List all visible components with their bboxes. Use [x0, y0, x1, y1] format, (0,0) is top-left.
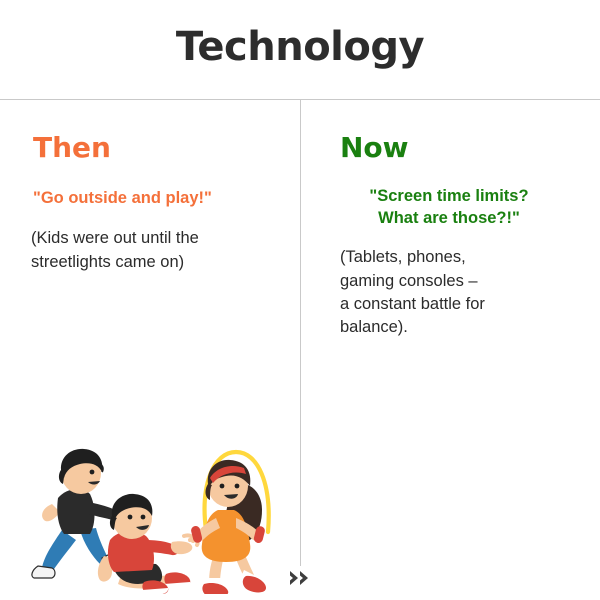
then-quote: "Go outside and play!" — [0, 162, 300, 209]
double-chevron-right-icon[interactable] — [286, 566, 314, 590]
slide-canvas: Technology Then "Go outside and play!" (… — [0, 0, 600, 600]
page-title: Technology — [176, 27, 424, 73]
column-now: Now "Screen time limits? What are those?… — [301, 100, 600, 600]
sitting-boy-figure — [98, 494, 198, 594]
title-area: Technology — [0, 0, 600, 99]
column-then: Then "Go outside and play!" (Kids were o… — [0, 100, 300, 600]
now-quote: "Screen time limits? What are those?!" — [301, 162, 600, 229]
now-heading: Now — [301, 100, 600, 162]
girl-jumping-rope-figure — [190, 460, 266, 594]
now-subtext: (Tablets, phones, gaming consoles – a co… — [301, 229, 600, 340]
then-heading: Then — [0, 100, 300, 162]
then-subtext: (Kids were out until the streetlights ca… — [0, 209, 300, 274]
kids-playing-outside-illustration — [18, 444, 283, 594]
